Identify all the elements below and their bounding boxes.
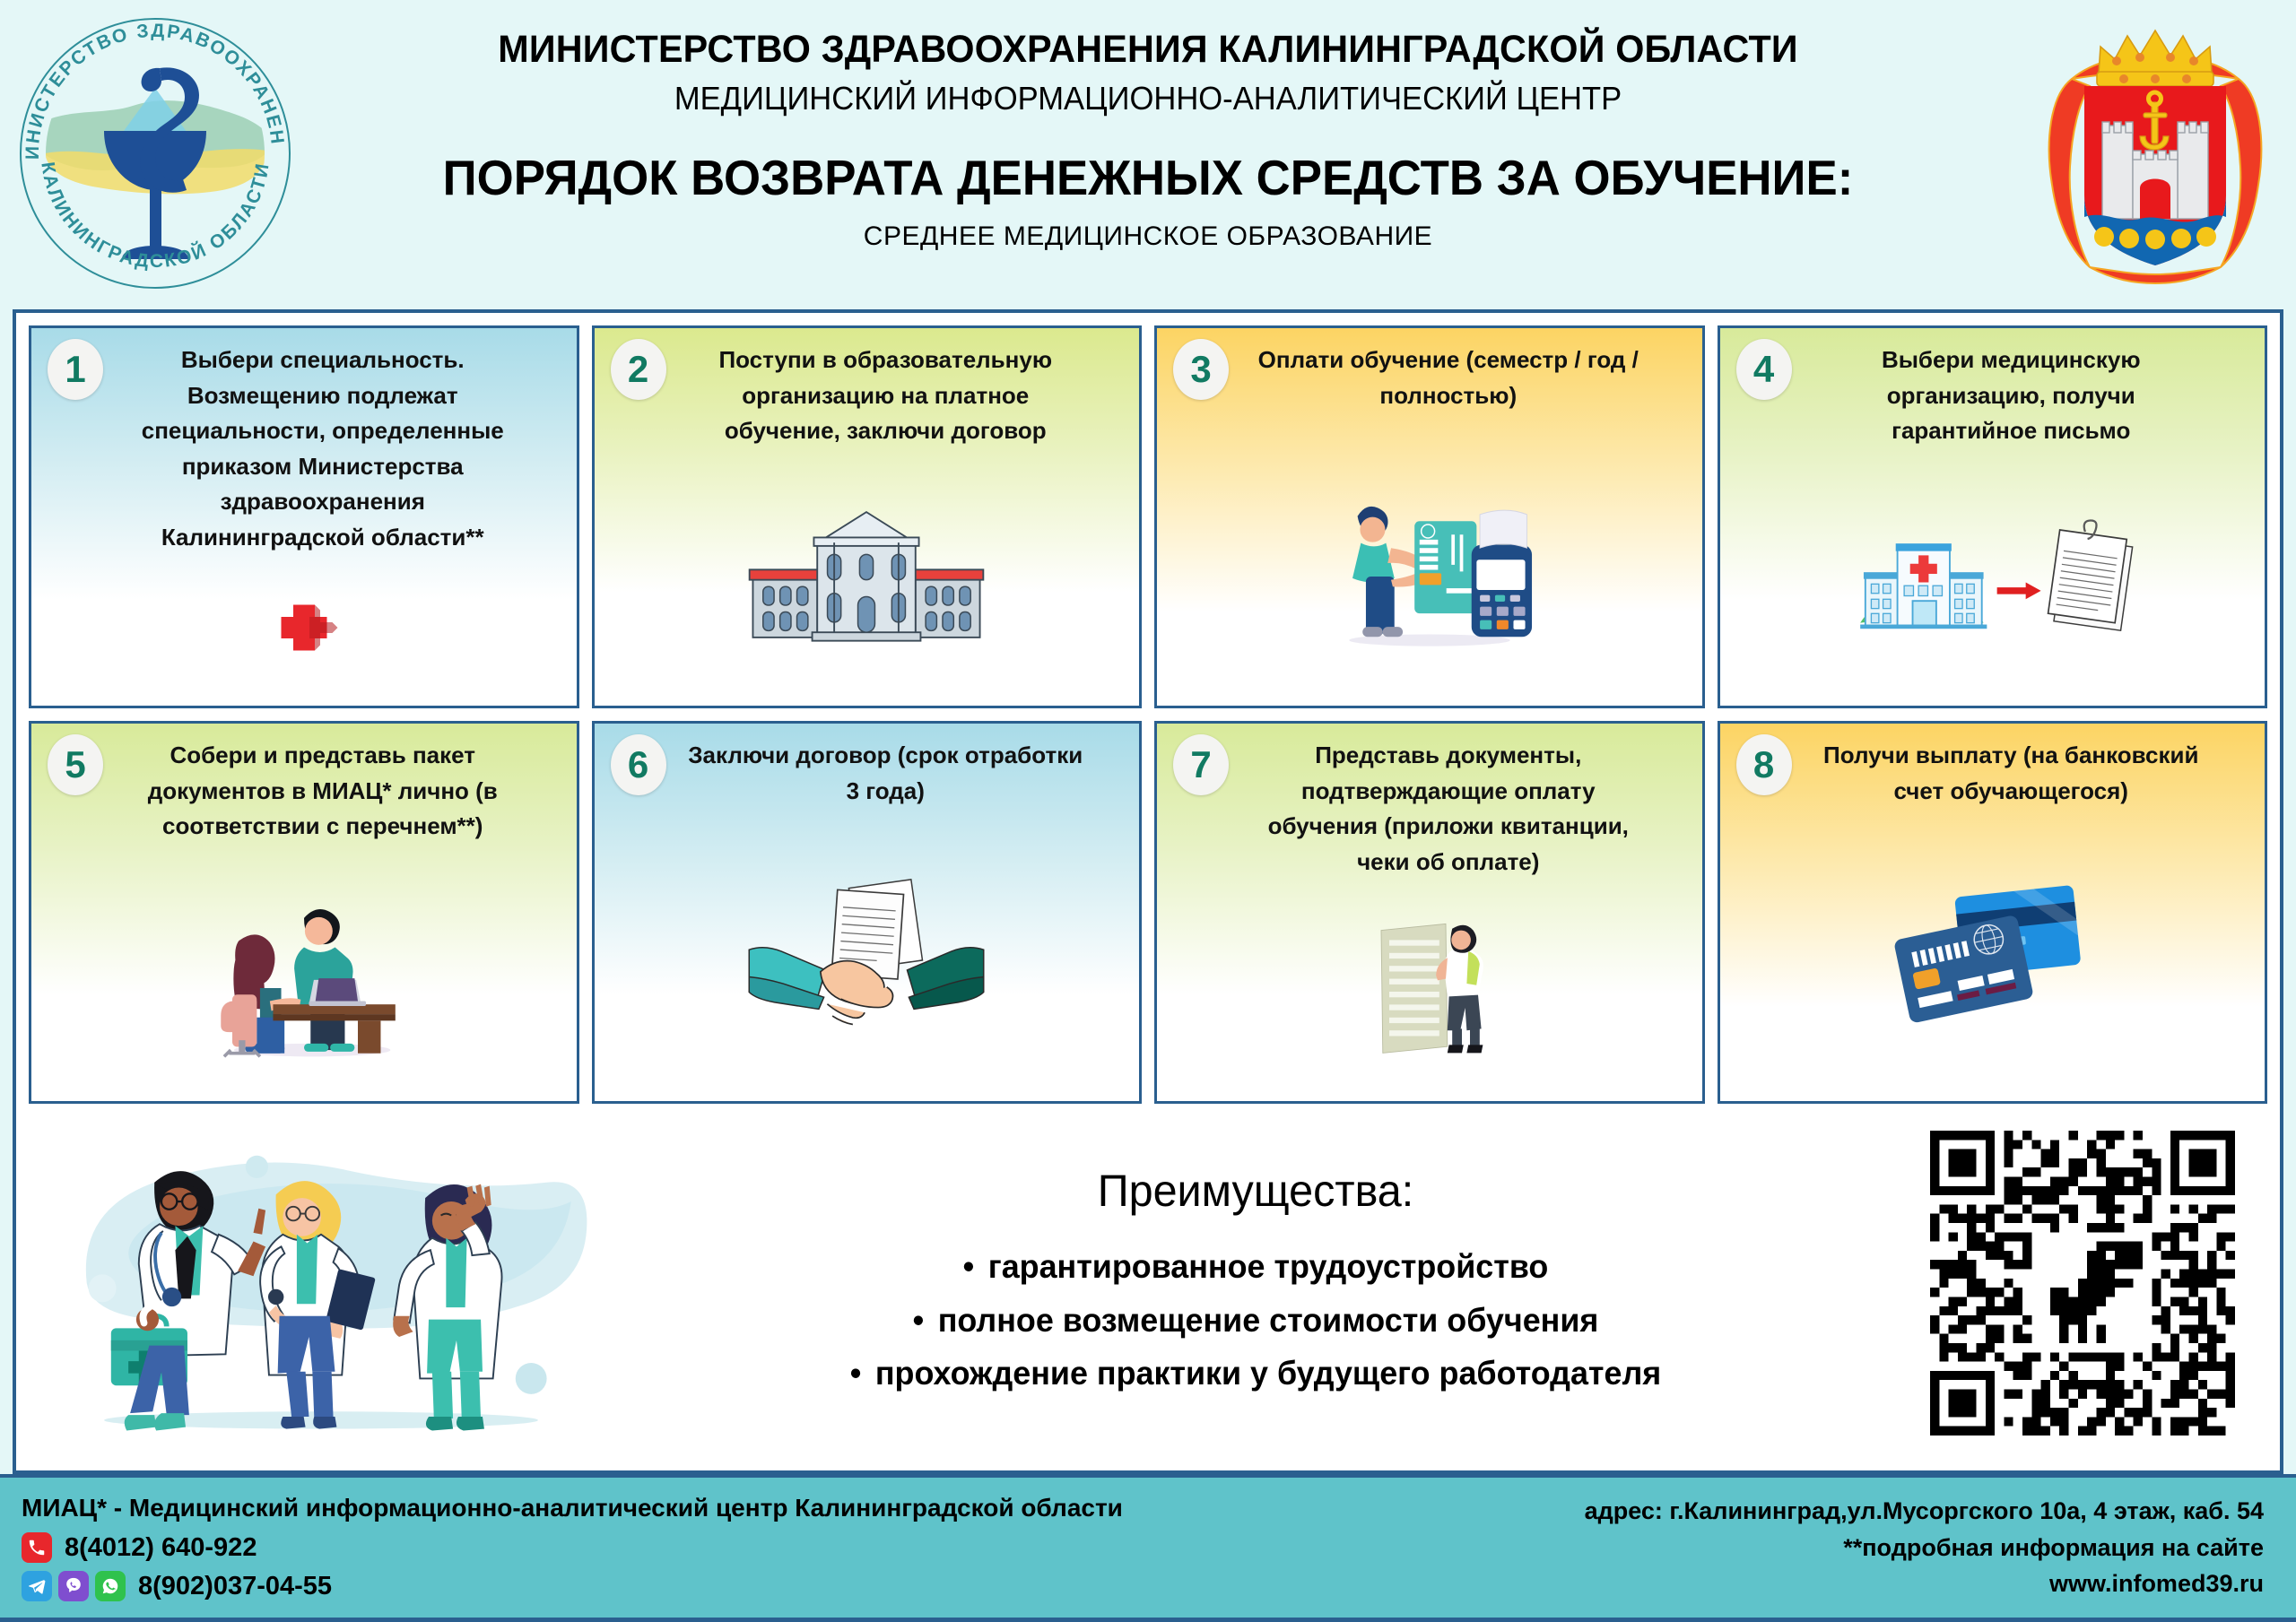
step-card-3[interactable]: 3 Оплати обучение (семестр / год / полно…: [1154, 325, 1705, 708]
benefit-item: прохождение практики у будущего работода…: [645, 1347, 1866, 1401]
footer-right: адрес: г.Калининград,ул.Мусоргского 10а,…: [1585, 1493, 2264, 1602]
step-card-2[interactable]: 2 Поступи в образовательную организацию …: [592, 325, 1143, 708]
footer-left: МИАЦ* - Медицинский информационно-аналит…: [22, 1490, 1123, 1605]
step-card-8[interactable]: 8 Получи выплату (на банковский счет обу…: [1718, 721, 2268, 1104]
step-text: Собери и представь пакет документов в МИ…: [123, 738, 523, 845]
red-cross-icon: [48, 555, 561, 697]
whatsapp-icon[interactable]: [95, 1571, 126, 1601]
organization-name: МИНИСТЕРСТВО ЗДРАВООХРАНЕНИЯ КАЛИНИНГРАД…: [330, 27, 1966, 73]
step-text: Оплати обучение (семестр / год / полност…: [1248, 343, 1648, 413]
benefit-item: полное возмещение стоимости обучения: [645, 1294, 1866, 1348]
benefit-item: гарантированное трудоустройство: [645, 1240, 1866, 1294]
footer: МИАЦ* - Медицинский информационно-аналит…: [0, 1474, 2296, 1622]
bank-cards-icon: [1736, 809, 2249, 1092]
hospital-to-letter-icon: [1736, 449, 2249, 697]
page-subtitle: СРЕДНЕЕ МЕДИЦИНСКОЕ ОБРАЗОВАНИЕ: [296, 221, 2000, 252]
phone-main-row: 8(4012) 640-922: [22, 1530, 1123, 1566]
step-number-badge: 4: [1736, 339, 1792, 400]
bottom-section: Преимущества: гарантированное трудоустро…: [29, 1104, 2267, 1458]
messenger-icons: [22, 1571, 126, 1601]
center-name: МЕДИЦИНСКИЙ ИНФОРМАЦИОННО-АНАЛИТИЧЕСКИЙ …: [330, 73, 1966, 125]
step-text: Получи выплату (на банковский счет обуча…: [1811, 738, 2211, 809]
benefits-title: Преимущества:: [645, 1165, 1866, 1217]
step-number-badge: 5: [48, 734, 103, 795]
step-number-badge: 1: [48, 339, 103, 400]
website[interactable]: www.infomed39.ru: [1585, 1566, 2264, 1602]
step-text: Представь документы, подтверждающие опла…: [1248, 738, 1648, 880]
handshake-contract-icon: [611, 809, 1124, 1092]
step-number-badge: 3: [1173, 339, 1229, 400]
card-payment-terminal-icon: [1173, 413, 1686, 697]
benefits-block: Преимущества: гарантированное трудоустро…: [608, 1165, 1903, 1401]
step-number-badge: 7: [1173, 734, 1229, 795]
phone-messengers-row: 8(902)037-04-55: [22, 1568, 1123, 1605]
step-text: Заключи договор (срок отработки 3 года): [685, 738, 1085, 809]
phone-icon: [22, 1532, 52, 1563]
ministry-logo-icon: МИНИСТЕРСТВО ЗДРАВООХРАНЕНИЯ КАЛИНИНГРАД…: [7, 5, 303, 301]
step-card-4[interactable]: 4 Выбери медицинскую организацию, получи…: [1718, 325, 2268, 708]
header-text-block: МИНИСТЕРСТВО ЗДРАВООХРАНЕНИЯ КАЛИНИНГРАД…: [296, 0, 2000, 252]
step-card-1[interactable]: 1 Выбери специальность. Возмещению подле…: [29, 325, 579, 708]
step-number-badge: 2: [611, 339, 666, 400]
step-number-badge: 8: [1736, 734, 1792, 795]
three-doctors-illustration: [34, 1126, 608, 1440]
step-card-5[interactable]: 5 Собери и представь пакет документов в …: [29, 721, 579, 1104]
college-building-icon: [611, 449, 1124, 697]
steps-grid: 1 Выбери специальность. Возмещению подле…: [29, 325, 2267, 1104]
header: МИНИСТЕРСТВО ЗДРАВООХРАНЕНИЯ КАЛИНИНГРАД…: [0, 0, 2296, 309]
step-card-6[interactable]: 6 Заключи договор (срок отработки 3 года…: [592, 721, 1143, 1104]
address: адрес: г.Калининград,ул.Мусоргского 10а,…: [1585, 1493, 2264, 1530]
phone-messengers[interactable]: 8(902)037-04-55: [138, 1568, 332, 1605]
viber-icon[interactable]: [58, 1571, 89, 1601]
phone-main[interactable]: 8(4012) 640-922: [65, 1530, 257, 1566]
qr-code-block[interactable]: [1903, 1131, 2262, 1436]
qr-code-with-dinosaur[interactable]: [1930, 1131, 2235, 1436]
step-text: Выбери специальность. Возмещению подлежа…: [123, 343, 523, 555]
telegram-icon[interactable]: [22, 1571, 52, 1601]
step-card-7[interactable]: 7 Представь документы, подтверждающие оп…: [1154, 721, 1705, 1104]
benefits-list: гарантированное трудоустройство полное в…: [626, 1240, 1885, 1401]
miac-definition: МИАЦ* - Медицинский информационно-аналит…: [22, 1490, 1123, 1526]
step-text: Выбери медицинскую организацию, получи г…: [1811, 343, 2211, 449]
step-text: Поступи в образовательную организацию на…: [685, 343, 1085, 449]
coat-of-arms-icon: [2034, 9, 2276, 296]
page-title: ПОРЯДОК ВОЗВРАТА ДЕНЕЖНЫХ СРЕДСТВ ЗА ОБУ…: [330, 151, 1966, 205]
step-number-badge: 6: [611, 734, 666, 795]
office-consultation-icon: [48, 845, 561, 1092]
main-panel: 1 Выбери специальность. Возмещению подле…: [13, 309, 2283, 1474]
more-info-note: **подробная информация на сайте: [1585, 1530, 2264, 1566]
poster-root: МИНИСТЕРСТВО ЗДРАВООХРАНЕНИЯ КАЛИНИНГРАД…: [0, 0, 2296, 1622]
red-arrow-icon: [1997, 582, 2041, 599]
woman-with-document-icon: [1173, 880, 1686, 1092]
